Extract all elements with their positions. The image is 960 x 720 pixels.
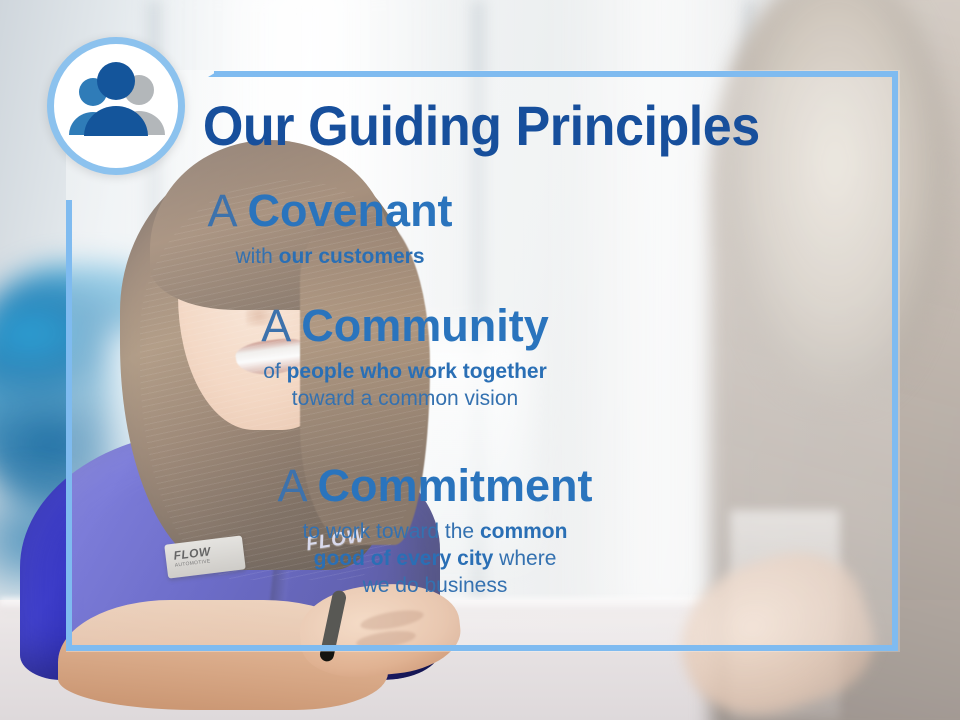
principle-sub-3: to work toward the commongood of every c…	[0, 518, 870, 600]
sub-run-regular: with	[235, 245, 278, 268]
principle-sub-2: of people who work togethertoward a comm…	[0, 358, 810, 413]
principle-sub-line: toward a common vision	[0, 385, 810, 412]
principle-sub-line: of people who work together	[0, 358, 810, 385]
principle-word-2: Community	[301, 300, 549, 351]
principle-heading-2: A Community	[0, 303, 810, 349]
page-title: Our Guiding Principles	[35, 93, 928, 158]
principle-sub-1: with our customers	[0, 243, 660, 270]
sub-run-regular: toward a common vision	[292, 387, 518, 410]
principle-word-3: Commitment	[318, 460, 593, 511]
principle-heading-3: A Commitment	[0, 463, 870, 509]
frame-border-bottom	[66, 645, 898, 651]
sub-run-regular: to work toward the	[303, 520, 480, 543]
guiding-principles-graphic: FLOW AUTOMOTIVE FLOW	[0, 0, 960, 720]
principle-block-covenant: A Covenant with our customers	[0, 188, 660, 270]
frame-border-top	[214, 71, 898, 77]
principle-sub-line: to work toward the common	[0, 518, 870, 545]
principle-article-1: A	[207, 185, 235, 236]
principle-sub-line: we do business	[0, 572, 870, 599]
frame-border-right	[892, 71, 898, 651]
sub-run-bold: people who work together	[287, 360, 547, 383]
sub-run-bold: common	[480, 520, 568, 543]
sub-run-regular: where	[493, 547, 556, 570]
principle-block-community: A Community of people who work togethert…	[0, 303, 810, 412]
principle-article-2: A	[261, 300, 289, 351]
sub-run-bold: good of every city	[314, 547, 494, 570]
sub-run-regular: of	[263, 360, 286, 383]
sub-run-bold: our customers	[279, 245, 425, 268]
principle-article-3: A	[277, 460, 305, 511]
principle-sub-line: good of every city where	[0, 545, 870, 572]
sub-run-regular: we do business	[363, 574, 508, 597]
principle-heading-1: A Covenant	[0, 188, 660, 234]
principle-block-commitment: A Commitment to work toward the commongo…	[0, 463, 870, 600]
principle-word-1: Covenant	[248, 185, 453, 236]
principle-sub-line: with our customers	[0, 243, 660, 270]
